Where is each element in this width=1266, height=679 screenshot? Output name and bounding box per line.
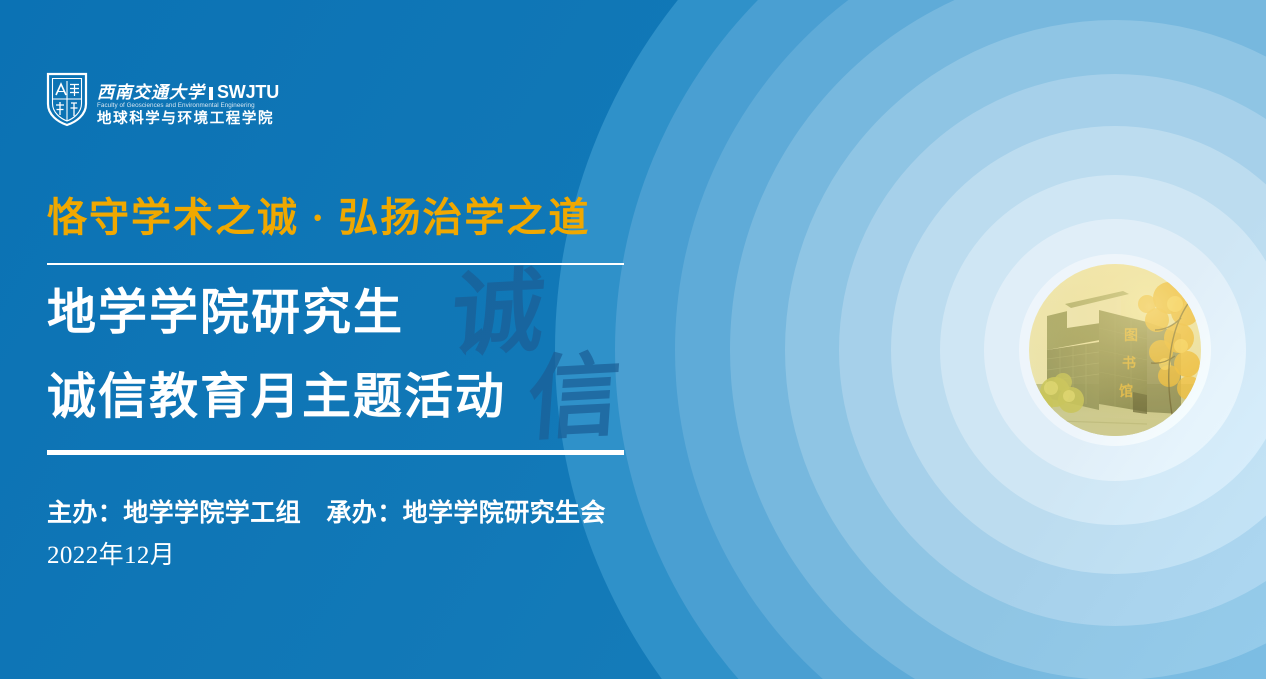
library-building-illustration: 图 书 馆: [1029, 264, 1201, 436]
logo-primary-line: 西南交通大学 SWJTU: [97, 82, 279, 101]
logo-text-block: 西南交通大学 SWJTU Faculty of Geosciences and …: [97, 70, 279, 128]
logo-divider-bar: [209, 87, 213, 100]
poster-text-block: 恪守学术之诚 · 弘扬治学之道 地学学院研究生 诚信教育月主题活动 主办：地学学…: [47, 192, 647, 573]
poster-slogan: 恪守学术之诚 · 弘扬治学之道: [47, 192, 647, 244]
poster-headline-line-2: 诚信教育月主题活动: [47, 349, 647, 433]
poster-headline-line-1: 地学学院研究生: [47, 265, 647, 349]
swjtu-shield-crest-icon: [46, 71, 88, 127]
campus-library-photo: 图 书 馆: [1029, 264, 1201, 436]
faculty-name-cn: 地球科学与环境工程学院: [97, 111, 279, 128]
poster-canvas: 诚 信 西南交通大学 SWJTU Faculty of Geosciences …: [0, 0, 1266, 679]
poster-organizers: 主办：地学学院学工组 承办：地学学院研究生会: [47, 455, 647, 531]
university-abbreviation: SWJTU: [217, 83, 279, 101]
poster-date: 2022年12月: [47, 531, 647, 573]
university-logo-lockup: 西南交通大学 SWJTU Faculty of Geosciences and …: [46, 70, 279, 128]
university-name-cn: 西南交通大学: [97, 84, 205, 101]
faculty-name-en: Faculty of Geosciences and Environmental…: [97, 102, 279, 110]
